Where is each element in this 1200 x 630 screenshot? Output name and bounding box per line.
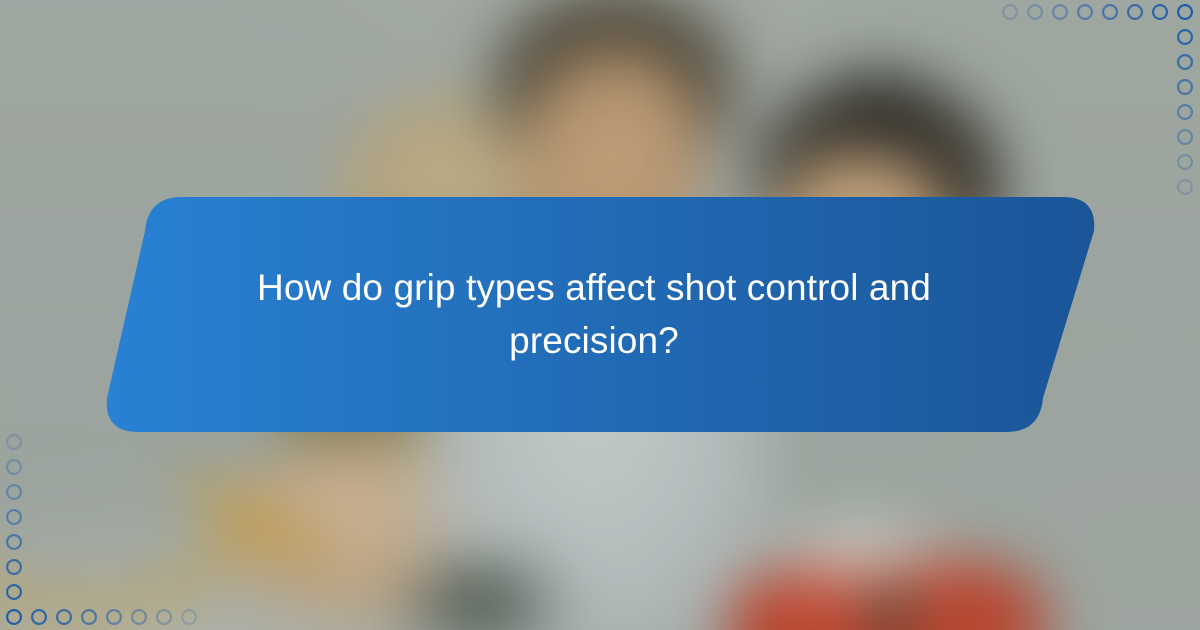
screenshot-canvas: How do grip types affect shot control an… [0,0,1200,630]
question-text: How do grip types affect shot control an… [234,262,954,367]
banner-text-block: How do grip types affect shot control an… [148,197,1040,433]
